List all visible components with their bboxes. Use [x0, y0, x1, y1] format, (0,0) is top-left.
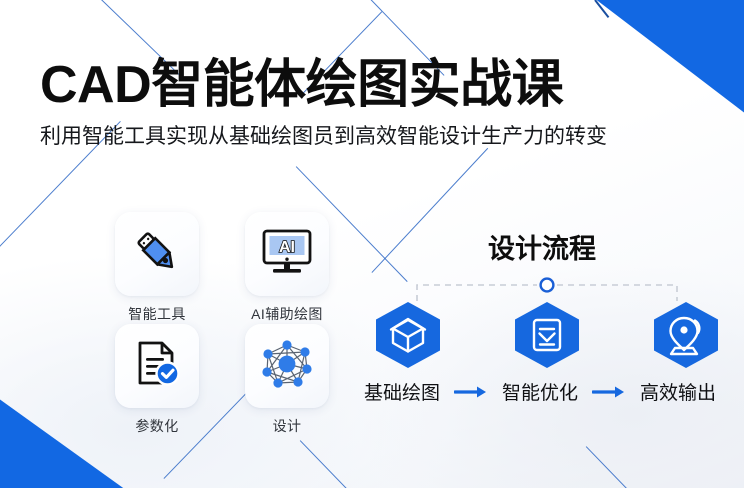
diagonal-line — [585, 446, 658, 488]
flow-step-label: 高效输出 — [640, 378, 716, 405]
corner-triangle-top-right — [594, 0, 744, 114]
flow-icon-row — [370, 300, 724, 370]
feature-card-design[interactable]: 设计 — [222, 324, 352, 436]
network-graph-icon — [260, 338, 314, 395]
feature-tile: AI — [245, 212, 329, 296]
flow-step-label: 智能优化 — [502, 378, 578, 405]
document-check-icon — [132, 339, 182, 394]
diagonal-line — [371, 148, 488, 273]
page-title: CAD智能体绘图实战课 — [40, 42, 563, 117]
svg-text:AI: AI — [279, 239, 295, 256]
ai-monitor-icon: AI — [260, 227, 314, 282]
arrow-right-icon — [454, 385, 488, 399]
feature-card-smart-tools[interactable]: 智能工具 — [92, 212, 222, 324]
feature-tile — [115, 324, 199, 408]
feature-grid: 智能工具 AI AI辅助绘图 — [92, 212, 352, 436]
feature-card-ai-drafting[interactable]: AI AI辅助绘图 — [222, 212, 352, 324]
feature-tile — [245, 324, 329, 408]
arrow-right-icon — [592, 385, 626, 399]
flow-step-labels: 基础绘图 智能优化 高效输出 — [364, 378, 716, 405]
diagonal-line — [299, 440, 360, 488]
feature-label: 设计 — [222, 416, 352, 436]
feature-tile — [115, 212, 199, 296]
banner-canvas: CAD智能体绘图实战课 利用智能工具实现从基础绘图员到高效智能设计生产力的转变 — [0, 0, 744, 488]
flow-step-label: 基础绘图 — [364, 378, 440, 405]
feature-card-parametric[interactable]: 参数化 — [92, 324, 222, 436]
flow-step-icon-basic-drafting[interactable] — [370, 300, 446, 370]
pen-nib-icon — [132, 227, 182, 282]
flow-section-title: 设计流程 — [488, 227, 596, 266]
page-subtitle: 利用智能工具实现从基础绘图员到高效智能设计生产力的转变 — [40, 120, 607, 150]
feature-label: 智能工具 — [92, 304, 222, 324]
feature-label: 参数化 — [92, 416, 222, 436]
flow-step-icon-efficient-output[interactable] — [648, 300, 724, 370]
feature-label: AI辅助绘图 — [222, 304, 352, 324]
flow-step-icon-smart-optimize[interactable] — [509, 300, 585, 370]
